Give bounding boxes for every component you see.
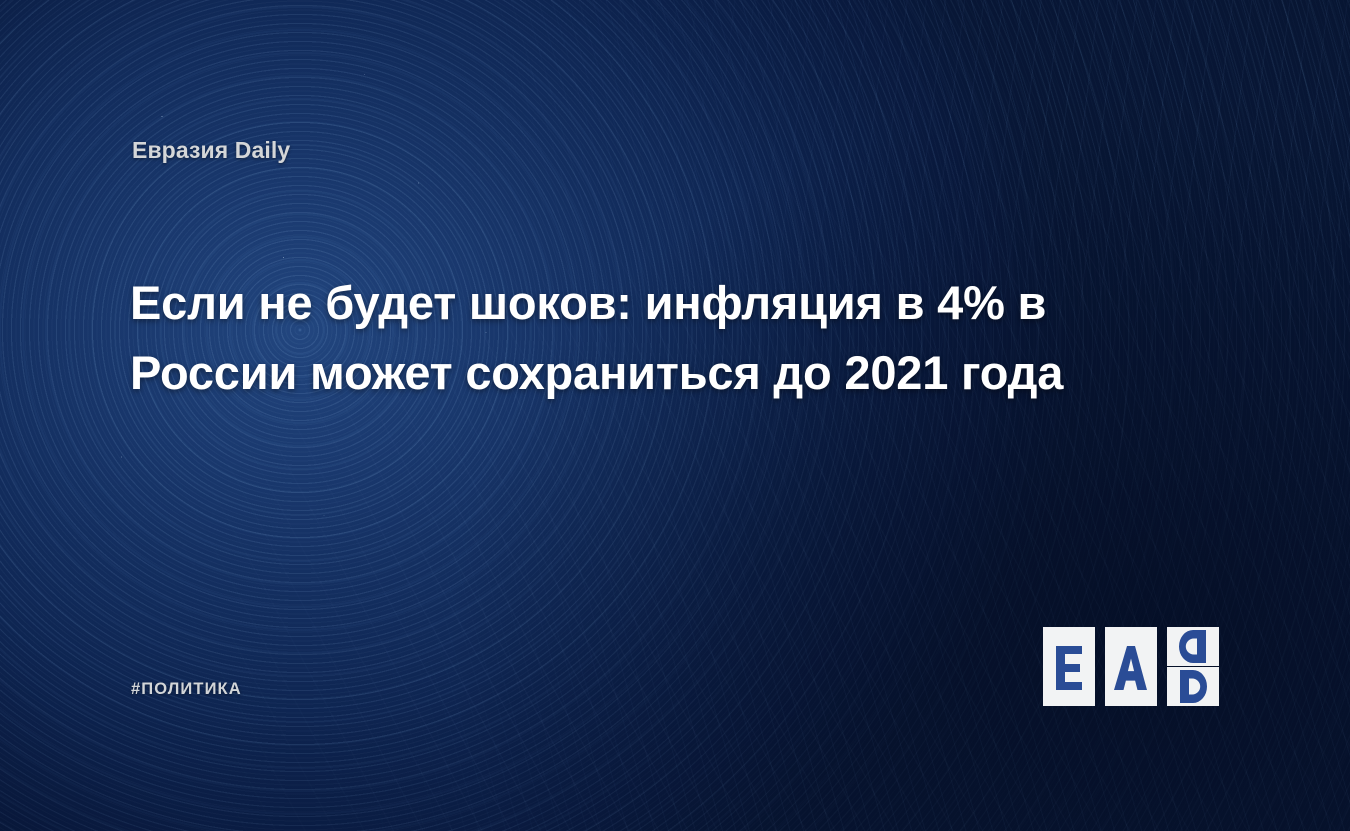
logo-tile-a: [1105, 627, 1157, 706]
logo-tile-d-top: [1167, 627, 1219, 666]
category-hashtag[interactable]: #ПОЛИТИКА: [131, 680, 242, 699]
logo-tile-d-bottom: [1167, 667, 1219, 706]
card-content: Евразия Daily Если не будет шоков: инфля…: [0, 0, 1350, 831]
headline-title: Если не будет шоков: инфляция в 4% в Рос…: [130, 268, 1145, 408]
logo-tile-dd-stack: [1167, 627, 1219, 706]
brand-label: Евразия Daily: [132, 137, 290, 164]
social-share-card: Евразия Daily Если не будет шоков: инфля…: [0, 0, 1350, 831]
logo-tile-e: [1043, 627, 1095, 706]
eadaily-logo[interactable]: [1043, 627, 1221, 706]
